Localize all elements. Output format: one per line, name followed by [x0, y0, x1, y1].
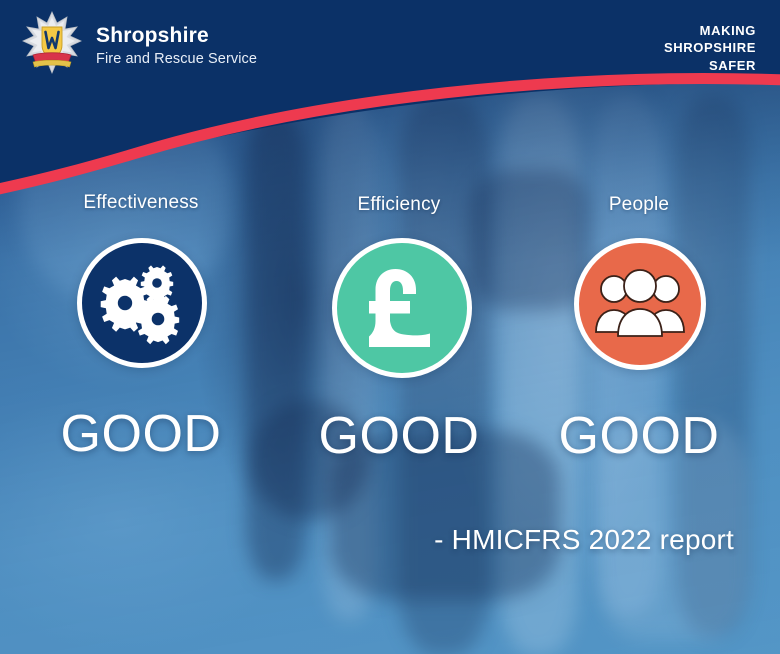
pillar-icon-circle-effectiveness — [77, 238, 207, 368]
pillar-icon-circle-people — [574, 238, 706, 370]
pillar-label-efficiency: Efficiency — [303, 194, 495, 216]
pillar-label-effectiveness: Effectiveness — [45, 192, 237, 214]
hmicfrs-results-poster: Shropshire Fire and Rescue Service MAKIN… — [0, 0, 780, 654]
gears-icon — [99, 261, 185, 345]
pillar-verdict-efficiency: GOOD — [303, 406, 495, 466]
pillar-icon-circle-efficiency — [332, 238, 472, 378]
pillar-label-people: People — [545, 194, 733, 216]
pillar-verdict-people: GOOD — [545, 406, 733, 466]
pound-sterling-icon — [364, 263, 440, 353]
pillar-verdict-effectiveness: GOOD — [45, 404, 237, 464]
people-group-icon — [594, 268, 686, 340]
attribution-text: - HMICFRS 2022 report — [434, 524, 734, 556]
